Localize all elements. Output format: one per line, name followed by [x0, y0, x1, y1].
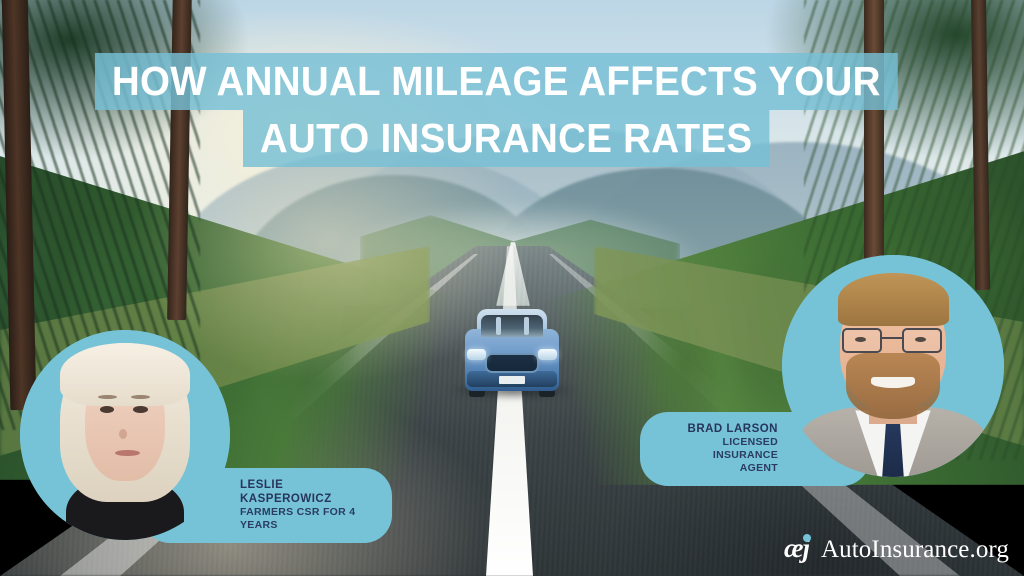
headline-line-2: AUTO INSURANCE RATES	[243, 110, 769, 167]
logo-wordmark: AutoInsurance.org	[821, 536, 1009, 563]
avatar-brad-glasses-bridge	[882, 337, 902, 339]
avatar-brad-glasses-right	[902, 328, 942, 352]
headlight-right	[538, 349, 557, 360]
avatar-leslie	[20, 330, 230, 540]
avatar-leslie-fringe	[60, 343, 190, 406]
expert-role-leslie-line2: YEARS	[240, 519, 376, 532]
avatar-brad-glasses-left	[842, 328, 882, 352]
expert-role-leslie-line1: FARMERS CSR FOR 4	[240, 506, 376, 519]
avatar-leslie-photo	[20, 330, 230, 540]
avatar-brad-photo	[782, 255, 1004, 477]
expert-name-leslie: LESLIE KASPEROWICZ	[240, 478, 376, 506]
avatar-leslie-mouth	[115, 450, 140, 456]
aj-monogram-icon: æj	[784, 534, 812, 564]
avatar-brad-hair	[838, 273, 949, 326]
avatar-leslie-eye-left	[100, 406, 115, 413]
site-logo[interactable]: æj AutoInsurance.org	[784, 534, 1009, 564]
expert-role-brad-line1: LICENSED INSURANCE	[656, 436, 778, 462]
headline-line-1-wrap: HOW ANNUAL MILEAGE AFFECTS YOUR	[95, 53, 949, 110]
headline-line-2-wrap: AUTO INSURANCE RATES	[243, 110, 803, 167]
avatar-brad	[782, 255, 1004, 477]
hero-banner: HOW ANNUAL MILEAGE AFFECTS YOUR AUTO INS…	[0, 0, 1024, 576]
aj-monogram-dot	[803, 534, 811, 542]
avatar-leslie-eye-right	[133, 406, 148, 413]
expert-name-brad: BRAD LARSON	[656, 422, 778, 436]
headline-line-1: HOW ANNUAL MILEAGE AFFECTS YOUR	[95, 53, 898, 110]
expert-role-brad-line2: AGENT	[656, 462, 778, 475]
